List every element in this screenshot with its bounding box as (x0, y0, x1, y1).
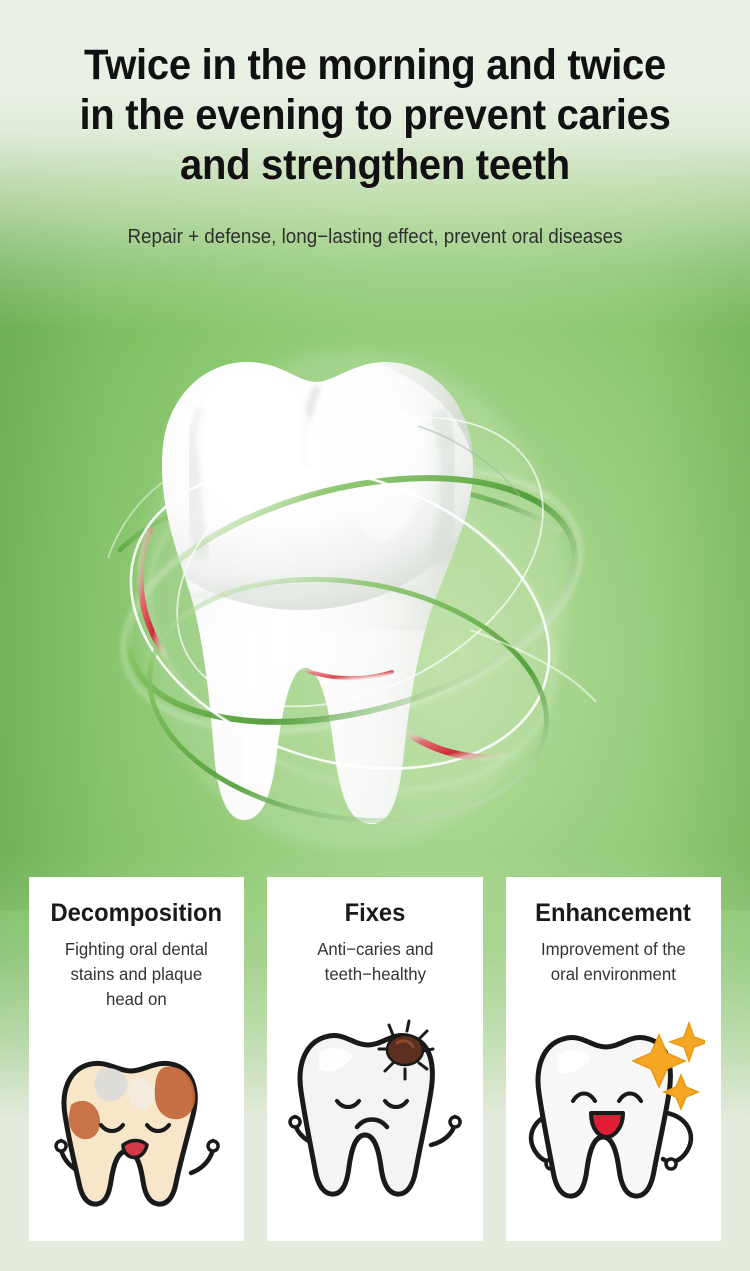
promo-page: Decomposition Fighting oral dental stain… (0, 0, 750, 1271)
hero-tooth-svg (0, 300, 750, 890)
hand-right (450, 1117, 460, 1127)
stained-tooth-character-icon (29, 1041, 244, 1213)
feature-card-list: Decomposition Fighting oral dental stain… (29, 877, 721, 1241)
arm-right-hip (663, 1113, 691, 1162)
feature-card-decomposition[interactable]: Decomposition Fighting oral dental stain… (29, 877, 244, 1241)
card-description: Fighting oral dental stains and plaque h… (37, 937, 235, 1012)
card-title: Decomposition (51, 899, 223, 927)
mouth-sad (123, 1141, 147, 1158)
header-block: Twice in the morning and twice in the ev… (0, 0, 750, 250)
hand-right (666, 1159, 676, 1169)
hand-right (208, 1141, 218, 1151)
cavity-tooth-character-icon (267, 1017, 482, 1213)
feature-card-enhancement[interactable]: Enhancement Improvement of the oral envi… (506, 877, 721, 1241)
card-title: Enhancement (535, 899, 691, 927)
page-title: Twice in the morning and twice in the ev… (26, 40, 724, 190)
hero-tooth-illustration (0, 300, 750, 890)
feature-card-fixes[interactable]: Fixes Anti−caries and teeth−healthy (267, 877, 482, 1241)
hand-left (290, 1117, 300, 1127)
sparkle-medium (670, 1023, 705, 1061)
card-description: Anti−caries and teeth−healthy (276, 937, 474, 987)
sparkling-healthy-tooth-character-icon (506, 1017, 721, 1213)
card-description: Improvement of the oral environment (514, 937, 712, 987)
page-subtitle: Repair + defense, long−lasting effect, p… (23, 224, 728, 250)
hand-left (56, 1141, 66, 1151)
card-title: Fixes (345, 899, 406, 927)
